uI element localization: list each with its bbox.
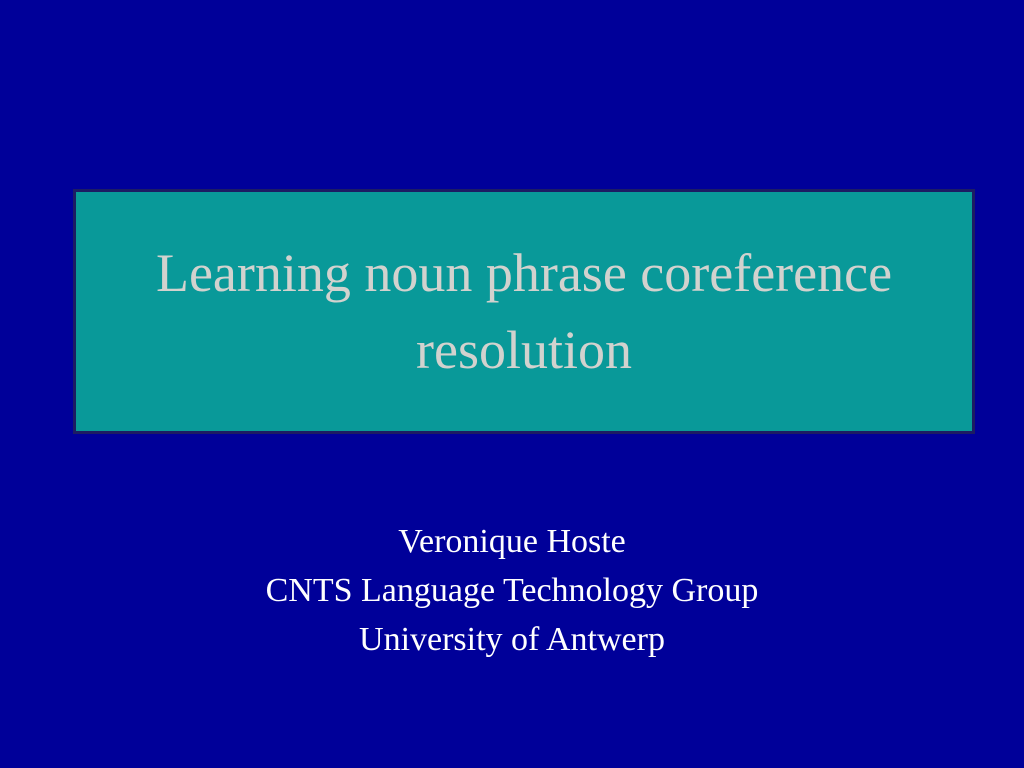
title-box: Learning noun phrase coreference resolut… bbox=[73, 189, 975, 434]
presentation-slide: Learning noun phrase coreference resolut… bbox=[0, 0, 1024, 768]
subtitle-line-author: Veronique Hoste bbox=[0, 518, 1024, 567]
subtitle-line-institution: University of Antwerp bbox=[0, 616, 1024, 665]
subtitle-line-affiliation: CNTS Language Technology Group bbox=[0, 567, 1024, 616]
subtitle-block: Veronique Hoste CNTS Language Technology… bbox=[0, 518, 1024, 665]
slide-title: Learning noun phrase coreference resolut… bbox=[76, 235, 972, 388]
